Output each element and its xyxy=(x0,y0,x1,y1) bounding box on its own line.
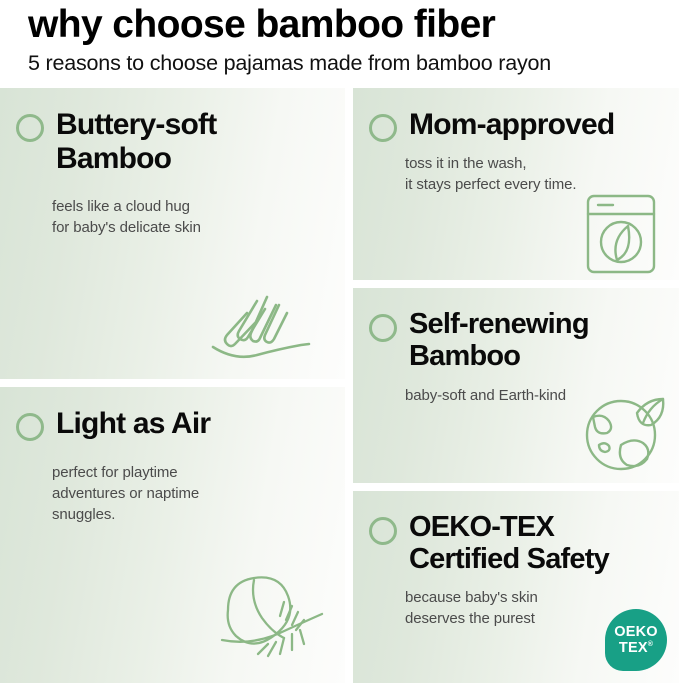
bullet-ring-icon xyxy=(369,114,397,142)
earth-globe-leaf-icon xyxy=(581,387,667,473)
card-oeko-tex-certified-safety[interactable]: OEKO-TEX Certified Safety because baby's… xyxy=(353,491,679,683)
card-title: Mom-approved xyxy=(409,108,614,142)
oeko-tex-badge: OEKO TEX® xyxy=(605,609,667,671)
card-header: Self-renewing Bamboo xyxy=(353,288,679,373)
card-header: Mom-approved xyxy=(353,88,679,142)
card-title: OEKO-TEX Certified Safety xyxy=(409,511,663,576)
washing-machine-icon xyxy=(583,192,659,276)
grid-column-left: Buttery-soft Bamboo feels like a cloud h… xyxy=(0,88,345,683)
page-root: why choose bamboo fiber 5 reasons to cho… xyxy=(0,0,679,683)
card-self-renewing-bamboo[interactable]: Self-renewing Bamboo baby-soft and Earth… xyxy=(353,288,679,483)
card-title: Buttery-soft Bamboo xyxy=(56,108,329,175)
bullet-ring-icon xyxy=(16,114,44,142)
oeko-tex-badge-text: TEX xyxy=(619,640,648,656)
card-header: OEKO-TEX Certified Safety xyxy=(353,491,679,576)
card-light-as-air[interactable]: Light as Air perfect for playtime advent… xyxy=(0,387,345,683)
hand-soft-touch-icon xyxy=(205,275,325,375)
card-description: feels like a cloud hug for baby's delica… xyxy=(0,196,345,238)
bullet-ring-icon xyxy=(369,314,397,342)
page-title: why choose bamboo fiber xyxy=(28,4,679,46)
card-mom-approved[interactable]: Mom-approved toss it in the wash, it sta… xyxy=(353,88,679,280)
registered-mark-icon: ® xyxy=(648,641,653,648)
page-subtitle: 5 reasons to choose pajamas made from ba… xyxy=(28,50,679,77)
grid-column-right: Mom-approved toss it in the wash, it sta… xyxy=(353,88,679,683)
page-header: why choose bamboo fiber 5 reasons to cho… xyxy=(0,0,679,77)
benefits-grid: Buttery-soft Bamboo feels like a cloud h… xyxy=(0,88,679,683)
card-title: Self-renewing Bamboo xyxy=(409,308,663,373)
bullet-ring-icon xyxy=(369,517,397,545)
card-title: Light as Air xyxy=(56,407,210,441)
feather-icon xyxy=(210,568,340,673)
card-buttery-soft-bamboo[interactable]: Buttery-soft Bamboo feels like a cloud h… xyxy=(0,88,345,379)
card-description: toss it in the wash, it stays perfect ev… xyxy=(353,153,679,195)
oeko-tex-badge-line2: TEX® xyxy=(619,641,653,656)
card-description: perfect for playtime adventures or napti… xyxy=(0,462,345,525)
card-header: Light as Air xyxy=(0,387,345,441)
card-header: Buttery-soft Bamboo xyxy=(0,88,345,175)
bullet-ring-icon xyxy=(16,413,44,441)
oeko-tex-badge-line1: OEKO xyxy=(614,625,658,640)
